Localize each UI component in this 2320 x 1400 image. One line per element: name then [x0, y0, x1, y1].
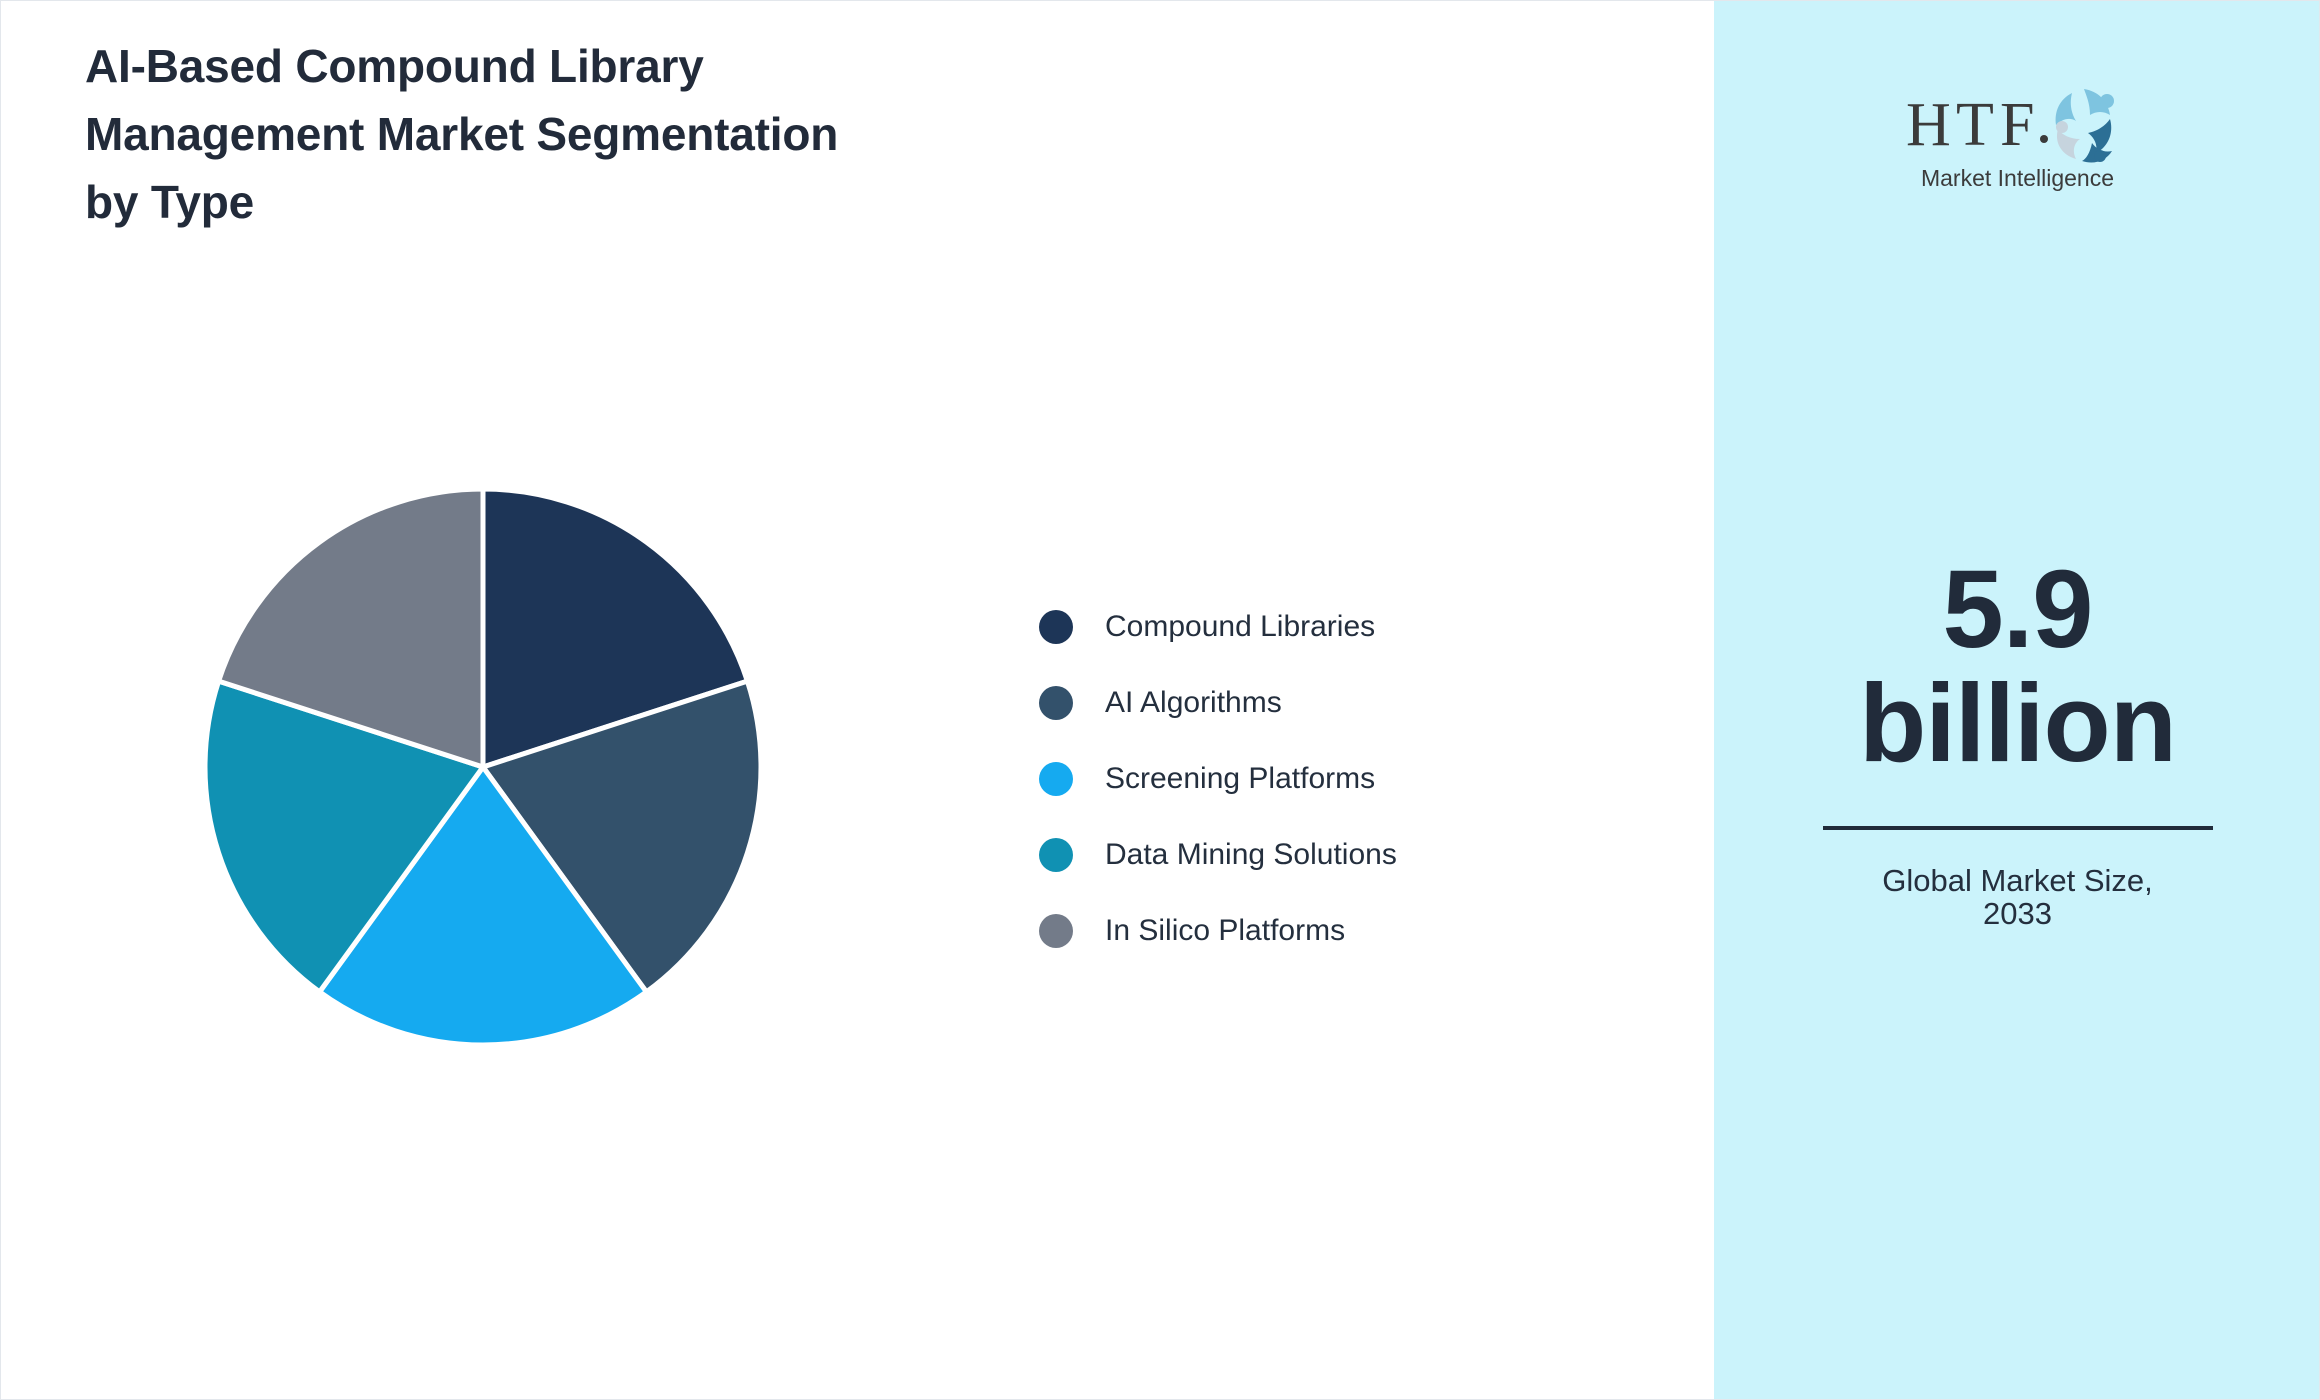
- market-size-stat: 5.9 billion Global Market Size, 2033: [1808, 553, 2228, 931]
- page-title-line-1: AI-Based Compound Library: [85, 43, 1085, 89]
- page-title: AI-Based Compound Library Management Mar…: [85, 43, 1085, 247]
- svg-text:F: F: [2000, 91, 2034, 159]
- legend-item-label: Screening Platforms: [1105, 762, 1375, 796]
- pie-chart-svg: [203, 487, 763, 1047]
- legend-item[interactable]: Data Mining Solutions: [1039, 817, 1599, 893]
- legend-item[interactable]: Screening Platforms: [1039, 741, 1599, 817]
- page-title-line-3: by Type: [85, 179, 1085, 225]
- stat-value: 5.9 billion: [1808, 553, 2228, 782]
- svg-text:T: T: [1956, 91, 1994, 159]
- htf-logo-icon: H T F: [1898, 79, 2138, 171]
- side-panel: H T F Market Intelligence: [1714, 1, 2320, 1400]
- page-title-line-2: Management Market Segmentation: [85, 111, 1085, 157]
- chart-legend: Compound Libraries AI Algorithms Screeni…: [1039, 589, 1599, 969]
- legend-swatch-icon: [1039, 686, 1073, 720]
- main-content-area: AI-Based Compound Library Management Mar…: [1, 1, 1714, 1400]
- svg-text:H: H: [1906, 91, 1951, 159]
- pie-slice-group: [205, 489, 761, 1045]
- legend-swatch-icon: [1039, 762, 1073, 796]
- infographic-canvas: AI-Based Compound Library Management Mar…: [0, 0, 2320, 1400]
- stat-value-line-1: 5.9: [1808, 553, 2228, 667]
- legend-item-label: Data Mining Solutions: [1105, 838, 1397, 872]
- stat-caption-line-2: 2033: [1808, 897, 2228, 930]
- legend-swatch-icon: [1039, 838, 1073, 872]
- logo-tagline: Market Intelligence: [1893, 165, 2143, 192]
- legend-item[interactable]: Compound Libraries: [1039, 589, 1599, 665]
- stat-divider: [1823, 826, 2213, 830]
- legend-item[interactable]: In Silico Platforms: [1039, 893, 1599, 969]
- legend-item-label: AI Algorithms: [1105, 686, 1282, 720]
- legend-swatch-icon: [1039, 610, 1073, 644]
- stat-value-line-2: billion: [1808, 667, 2228, 781]
- legend-item-label: In Silico Platforms: [1105, 914, 1345, 948]
- legend-swatch-icon: [1039, 914, 1073, 948]
- stat-caption-line-1: Global Market Size,: [1808, 864, 2228, 897]
- brand-logo[interactable]: H T F Market Intelligence: [1893, 79, 2143, 192]
- legend-item-label: Compound Libraries: [1105, 610, 1375, 644]
- pie-chart: [203, 487, 763, 1047]
- legend-item[interactable]: AI Algorithms: [1039, 665, 1599, 741]
- stat-caption: Global Market Size, 2033: [1808, 864, 2228, 931]
